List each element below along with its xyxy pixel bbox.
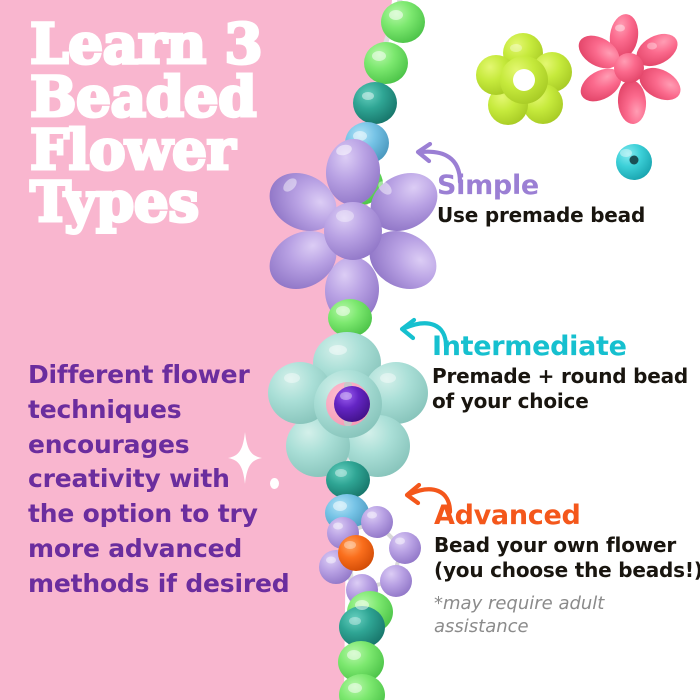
description-line-1: Different flower (28, 358, 328, 393)
title-line-2: Beaded (30, 71, 340, 124)
title-line-4: Types (30, 176, 340, 229)
description-line-4: creativity with (28, 462, 328, 497)
description-line-2: techniques (28, 393, 328, 428)
annotation-advanced-heading: Advanced (434, 502, 700, 530)
sparkle-dot-icon (270, 478, 279, 489)
sparkle-icon (228, 432, 262, 484)
annotation-simple-body-line-1: Use premade bead (437, 203, 645, 228)
annotation-simple-heading: Simple (437, 172, 645, 200)
annotation-advanced-body-line-2: (you choose the beads!) (434, 558, 700, 583)
annotation-intermediate: Intermediate Premade + round bead of you… (432, 333, 688, 414)
annotation-advanced-body-line-1: Bead your own flower (434, 533, 700, 558)
title-line-1: Learn 3 (30, 18, 340, 71)
annotation-advanced: Advanced Bead your own flower (you choos… (434, 502, 700, 638)
annotation-simple: Simple Use premade bead (437, 172, 645, 228)
description-paragraph: Different flower techniques encourages c… (28, 358, 328, 601)
page-title: Learn 3 Beaded Flower Types (30, 18, 340, 229)
annotation-intermediate-body-line-2: of your choice (432, 389, 688, 414)
annotation-intermediate-body-line-1: Premade + round bead (432, 364, 688, 389)
annotation-intermediate-heading: Intermediate (432, 333, 688, 361)
description-line-7: methods if desired (28, 567, 328, 602)
description-line-3: encourages (28, 428, 328, 463)
infographic-canvas: Learn 3 Beaded Flower Types Different fl… (0, 0, 700, 700)
description-line-6: more advanced (28, 532, 328, 567)
annotation-advanced-note-line-1: *may require adult (434, 593, 700, 616)
annotation-advanced-note-line-2: assistance (434, 616, 700, 639)
description-line-5: the option to try (28, 497, 328, 532)
